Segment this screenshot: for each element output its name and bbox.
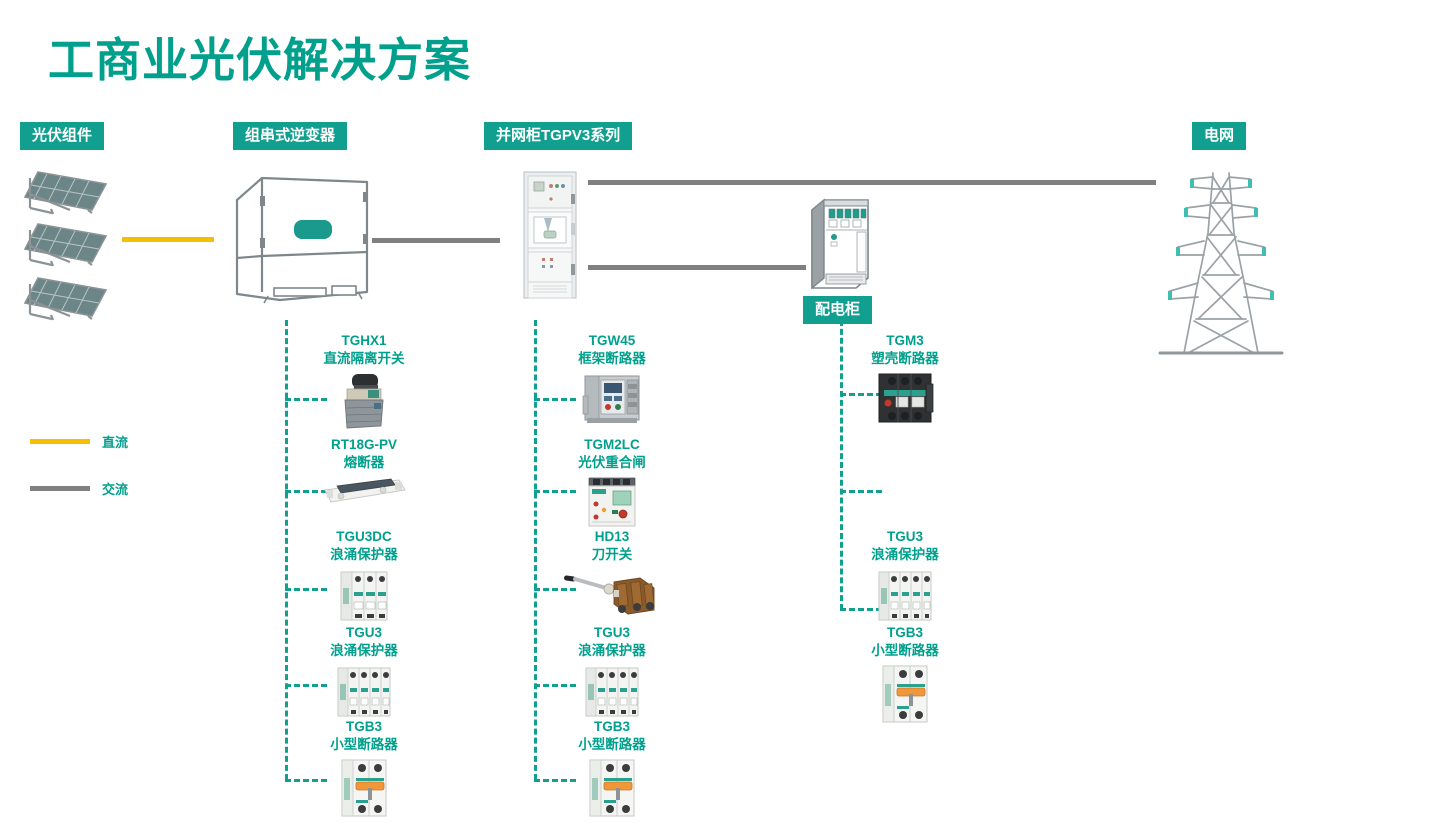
- component-card: TGU3 浪涌保护器: [279, 624, 449, 725]
- string-inverter-icon: [232, 172, 372, 304]
- mcb-2pole-icon: [877, 662, 933, 724]
- solar-panel-icon: [22, 166, 112, 216]
- component-model: HD13: [527, 528, 697, 546]
- air-circuit-breaker-icon: [579, 370, 645, 426]
- legend-label-ac: 交流: [102, 479, 128, 498]
- component-desc: 熔断器: [279, 454, 449, 472]
- distribution-cabinet-icon: [808, 196, 872, 290]
- component-card: TGB3 小型断路器: [820, 624, 990, 729]
- component-model: TGW45: [527, 332, 697, 350]
- stage-badge-string-inverter: 组串式逆变器: [233, 122, 347, 150]
- legend-item-ac: 交流: [30, 479, 128, 498]
- component-desc: 光伏重合闸: [527, 454, 697, 472]
- component-model: TGM2LC: [527, 436, 697, 454]
- spd-4pole-icon: [581, 662, 643, 720]
- knife-switch-icon: [562, 566, 662, 618]
- component-card: TGU3 浪涌保护器: [820, 528, 990, 629]
- pv-recloser-icon: [583, 474, 641, 530]
- component-model: RT18G-PV: [279, 436, 449, 454]
- component-card: TGU3 浪涌保护器: [527, 624, 697, 725]
- component-desc: 小型断路器: [527, 736, 697, 754]
- component-card: TGM2LC 光伏重合闸: [527, 436, 697, 535]
- component-card: TGB3 小型断路器: [279, 718, 449, 823]
- component-model: TGM3: [820, 332, 990, 350]
- mccb-3pole-icon: [874, 370, 936, 426]
- spd-3pole-icon: [335, 566, 393, 624]
- component-card: TGM3 塑壳断路器: [820, 332, 990, 431]
- component-desc: 浪涌保护器: [279, 546, 449, 564]
- component-model: TGU3: [527, 624, 697, 642]
- spd-4pole-icon: [333, 662, 395, 720]
- component-card: TGW45 框架断路器: [527, 332, 697, 431]
- transmission-tower-icon: [1158, 163, 1284, 359]
- component-desc: 浪涌保护器: [820, 546, 990, 564]
- component-card: TGU3DC 浪涌保护器: [279, 528, 449, 629]
- component-model: TGB3: [820, 624, 990, 642]
- mcb-2pole-icon: [584, 756, 640, 818]
- stage-badge-grid-cabinet: 并网柜TGPV3系列: [484, 122, 632, 150]
- component-desc: 浪涌保护器: [279, 642, 449, 660]
- stage-badge-distribution-box: 配电柜: [803, 296, 872, 324]
- component-card: RT18G-PV 熔断器: [279, 436, 449, 513]
- diagram-canvas: 工商业光伏解决方案 光伏组件 组串式逆变器 并网柜TGPV3系列 配电柜 电网 …: [0, 0, 1436, 829]
- component-desc: 浪涌保护器: [527, 642, 697, 660]
- component-model: TGU3: [279, 624, 449, 642]
- grid-cabinet-icon: [522, 168, 578, 300]
- flow-line-ac-cabinet-to-distribution: [588, 265, 806, 270]
- legend-label-dc: 直流: [102, 432, 128, 451]
- dc-isolator-switch-icon: [334, 370, 394, 432]
- legend-swatch-ac: [30, 486, 90, 491]
- component-card: HD13 刀开关: [527, 528, 697, 623]
- component-card: TGB3 小型断路器: [527, 718, 697, 823]
- component-desc: 框架断路器: [527, 350, 697, 368]
- mcb-2pole-icon: [336, 756, 392, 818]
- solar-panel-icon: [22, 218, 112, 268]
- fuse-holder-icon: [321, 474, 407, 508]
- flow-line-ac-inverter-to-cabinet: [372, 238, 500, 243]
- branch-connector: [840, 490, 882, 493]
- component-desc: 小型断路器: [820, 642, 990, 660]
- component-desc: 刀开关: [527, 546, 697, 564]
- stage-badge-power-grid: 电网: [1192, 122, 1246, 150]
- legend-swatch-dc: [30, 439, 90, 444]
- component-desc: 直流隔离开关: [279, 350, 449, 368]
- component-model: TGB3: [527, 718, 697, 736]
- spd-4pole-icon: [874, 566, 936, 624]
- component-model: TGHX1: [279, 332, 449, 350]
- solar-panel-icon: [22, 272, 112, 322]
- component-model: TGB3: [279, 718, 449, 736]
- flow-line-dc-pv-to-inverter: [122, 237, 214, 242]
- page-title: 工商业光伏解决方案: [48, 24, 471, 90]
- component-desc: 小型断路器: [279, 736, 449, 754]
- component-model: TGU3DC: [279, 528, 449, 546]
- stage-badge-pv-modules: 光伏组件: [20, 122, 104, 150]
- component-card: TGHX1 直流隔离开关: [279, 332, 449, 437]
- component-desc: 塑壳断路器: [820, 350, 990, 368]
- component-model: TGU3: [820, 528, 990, 546]
- flow-line-ac-cabinet-to-grid: [588, 180, 1156, 185]
- legend-item-dc: 直流: [30, 432, 128, 451]
